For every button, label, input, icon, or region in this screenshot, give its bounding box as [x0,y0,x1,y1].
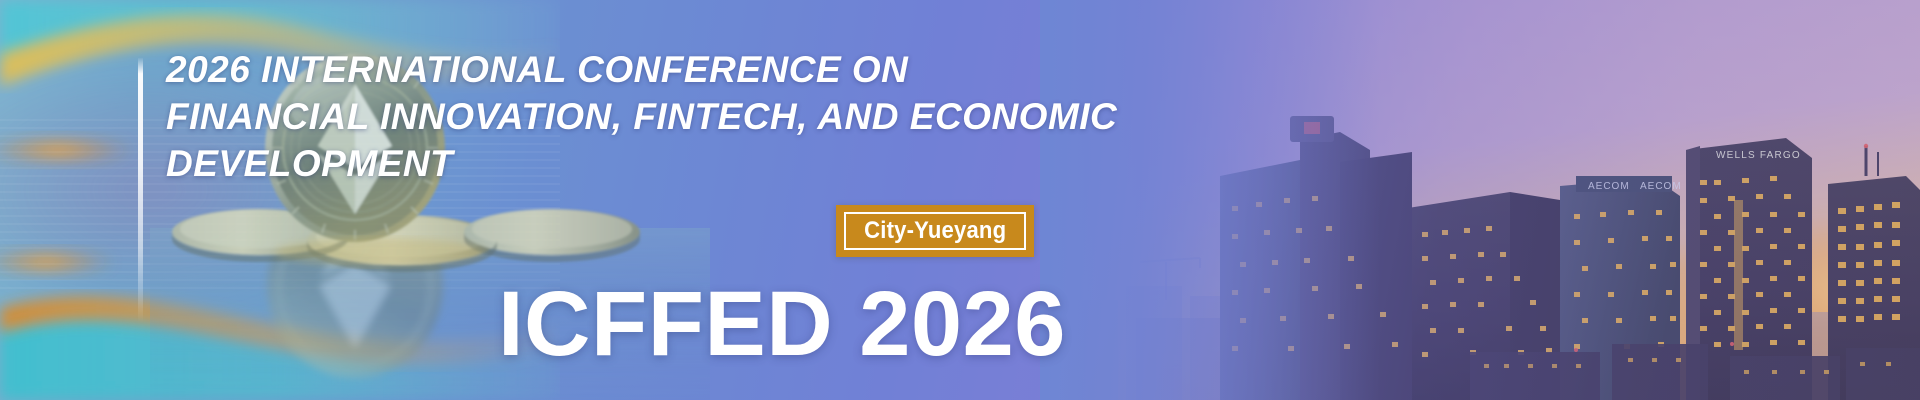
conference-acronym: ICFFED 2026 [498,278,1066,370]
location-badge-label: City-Yueyang [864,217,1006,245]
location-badge-border: City-Yueyang [844,212,1026,250]
title-line-3: DEVELOPMENT [166,140,1246,187]
vertical-divider [138,58,143,322]
conference-banner: AECOM AECOM WELLS FARGO [0,0,1920,400]
conference-title: 2026 INTERNATIONAL CONFERENCE ON FINANCI… [166,46,1246,187]
location-badge: City-Yueyang [836,205,1034,257]
svg-text:WELLS FARGO: WELLS FARGO [1716,150,1801,161]
svg-text:AECOM: AECOM [1640,181,1682,192]
title-line-2: FINANCIAL INNOVATION, FINTECH, AND ECONO… [166,93,1246,140]
svg-text:AECOM: AECOM [1588,181,1630,192]
title-line-1: 2026 INTERNATIONAL CONFERENCE ON [166,46,1246,93]
